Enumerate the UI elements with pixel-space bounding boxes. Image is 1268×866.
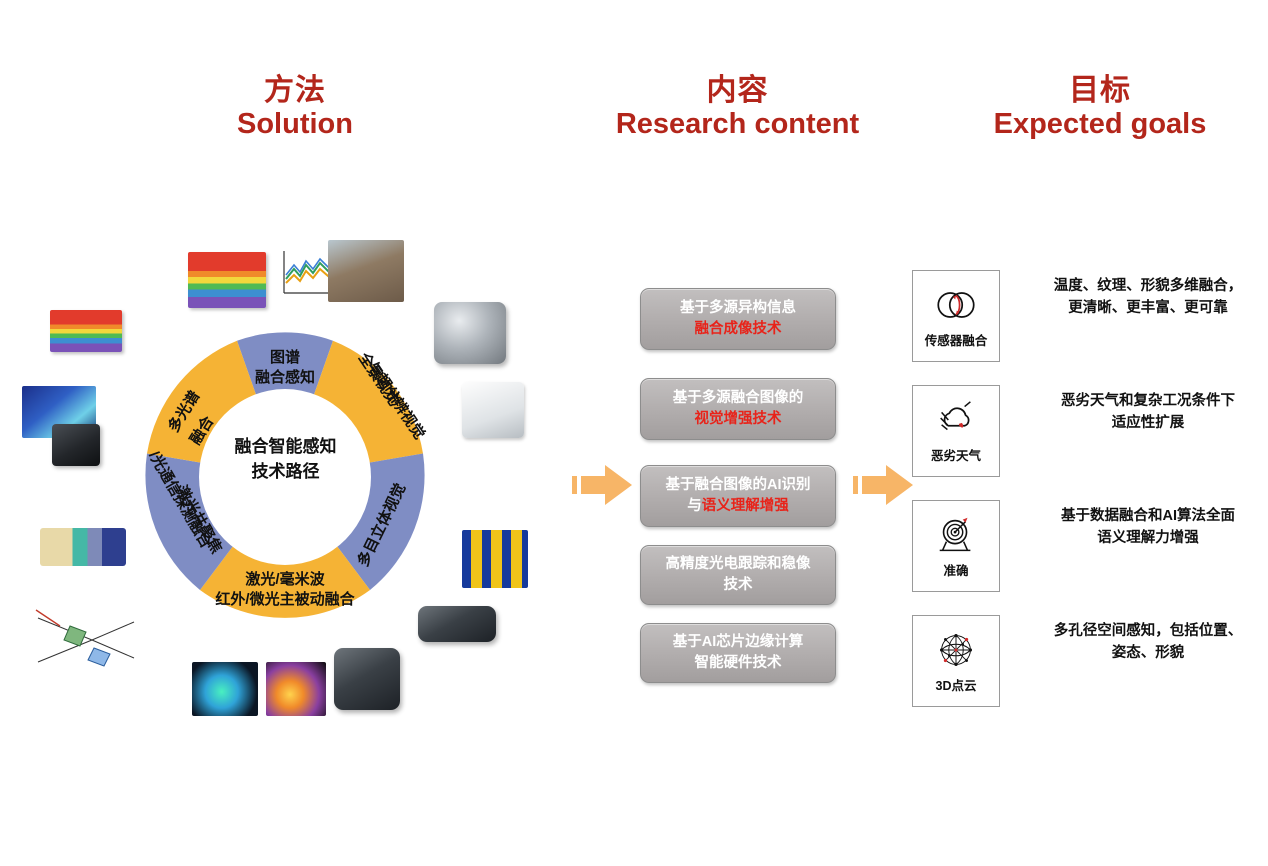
goal-caption-4: 3D点云 (936, 675, 977, 694)
wheel-hub-text: 融合智能感知 技术路径 (178, 435, 393, 484)
wheel-label-top-line1: 图谱 (270, 348, 300, 366)
goal-desc-2-line1: 恶劣天气和复杂工况条件下 (1061, 393, 1235, 409)
goal-description-2: 恶劣天气和复杂工况条件下 适应性扩展 (1030, 391, 1266, 435)
heading-solution-cn: 方法 (170, 74, 420, 108)
goal-row-accuracy: 准确 基于数据融合和AI算法全面 语义理解力增强 (912, 500, 1252, 592)
goal-icon-card-1[interactable]: 传感器融合 (912, 270, 1000, 362)
wheel-label-bottom-line2: 红外/微光主被动融合 (215, 590, 355, 608)
solution-wheel: 图谱 融合感知 全景视觉 与超分辨视觉 多目立体视觉 激光/毫米波 红外/微光主… (120, 290, 450, 665)
goal-row-severe-weather: 恶劣天气 恶劣天气和复杂工况条件下 适应性扩展 (912, 385, 1252, 477)
sonar-target-thumb (192, 662, 258, 716)
research-box-2-line2: 视觉增强技术 (695, 411, 782, 427)
goal-icon-card-2[interactable]: 恶劣天气 (912, 385, 1000, 477)
heading-goals-cn: 目标 (955, 74, 1245, 108)
goal-desc-2-line2: 适应性扩展 (1112, 415, 1185, 431)
research-content-box-3[interactable]: 基于融合图像的AI识别 与语义理解增强 (640, 465, 836, 527)
heading-content-en: Research content (600, 108, 875, 140)
research-content-box-4[interactable]: 高精度光电跟踪和稳像 技术 (640, 545, 836, 605)
rain-cloud-icon (933, 398, 979, 442)
goal-caption-1: 传感器融合 (925, 330, 988, 349)
heading-content-cn: 内容 (600, 74, 875, 108)
goal-icon-card-3[interactable]: 准确 (912, 500, 1000, 592)
arrow-solution-to-content (572, 462, 634, 513)
goal-icon-card-4[interactable]: 3D点云 (912, 615, 1000, 707)
research-box-3-line2-highlight: 语义理解增强 (702, 498, 789, 514)
research-box-2-line1: 基于多源融合图像的 (673, 390, 804, 406)
goal-row-3d-point-cloud: 3D点云 多孔径空间感知，包括位置、 姿态、形貌 (912, 615, 1252, 707)
research-box-1-line1: 基于多源异构信息 (680, 300, 796, 316)
research-box-4-line1: 高精度光电跟踪和稳像 (666, 556, 811, 572)
heading-goals-en: Expected goals (955, 108, 1245, 140)
research-content-box-5[interactable]: 基于AI芯片边缘计算 智能硬件技术 (640, 623, 836, 683)
goal-description-4: 多孔径空间感知，包括位置、 姿态、形貌 (1030, 621, 1266, 665)
goal-desc-4-line1: 多孔径空间感知，包括位置、 (1054, 623, 1243, 639)
research-box-5-line1: 基于AI芯片边缘计算 (673, 634, 804, 650)
column-heading-solution: 方法 Solution (170, 74, 420, 140)
thermal-scene-thumb (266, 662, 326, 716)
column-heading-expected-goals: 目标 Expected goals (955, 74, 1245, 140)
target-dart-icon (933, 513, 979, 557)
white-instrument-thumb (462, 382, 524, 438)
point-cloud-sphere-icon (933, 628, 979, 672)
wheel-label-bottom-line1: 激光/毫米波 (245, 570, 325, 588)
goal-caption-3: 准确 (943, 560, 968, 579)
goal-desc-4-line2: 姿态、形貌 (1112, 645, 1185, 661)
wheel-hub-line1: 融合智能感知 (178, 435, 393, 460)
goal-description-3: 基于数据融合和AI算法全面 语义理解力增强 (1030, 506, 1266, 550)
optical-bench-diagram-thumb (40, 528, 126, 566)
research-content-box-2[interactable]: 基于多源融合图像的 视觉增强技术 (640, 378, 836, 440)
goal-row-sensor-fusion: 传感器融合 温度、纹理、形貌多维融合， 更清晰、更丰富、更可靠 (912, 270, 1252, 362)
wheel-hub-line2: 技术路径 (178, 460, 393, 485)
arrow-content-to-goals (853, 462, 915, 513)
research-content-box-1[interactable]: 基于多源异构信息 融合成像技术 (640, 288, 836, 350)
wheel-label-top-line2: 融合感知 (255, 368, 315, 386)
blue-yellow-pattern-thumb (462, 530, 528, 588)
goal-description-1: 温度、纹理、形貌多维融合， 更清晰、更丰富、更可靠 (1030, 276, 1266, 320)
research-box-3-line2-prefix: 与 (687, 498, 702, 514)
goal-desc-1-line1: 温度、纹理、形貌多维融合， (1054, 278, 1243, 294)
research-box-4-line2: 技术 (724, 577, 753, 593)
heading-solution-en: Solution (170, 108, 420, 140)
goal-desc-1-line2: 更清晰、更丰富、更可靠 (1068, 300, 1228, 316)
column-heading-research-content: 内容 Research content (600, 74, 875, 140)
research-box-3-line1: 基于融合图像的AI识别 (666, 477, 811, 493)
goal-caption-2: 恶劣天气 (931, 445, 981, 464)
hyperspectral-slab-thumb (50, 310, 122, 352)
goal-desc-3-line1: 基于数据融合和AI算法全面 (1061, 508, 1235, 524)
venn-circles-icon (933, 283, 979, 327)
goal-desc-3-line2: 语义理解力增强 (1097, 530, 1199, 546)
black-camera-thumb (52, 424, 100, 466)
research-box-5-line2: 智能硬件技术 (695, 655, 782, 671)
research-box-1-line2: 融合成像技术 (695, 321, 782, 337)
